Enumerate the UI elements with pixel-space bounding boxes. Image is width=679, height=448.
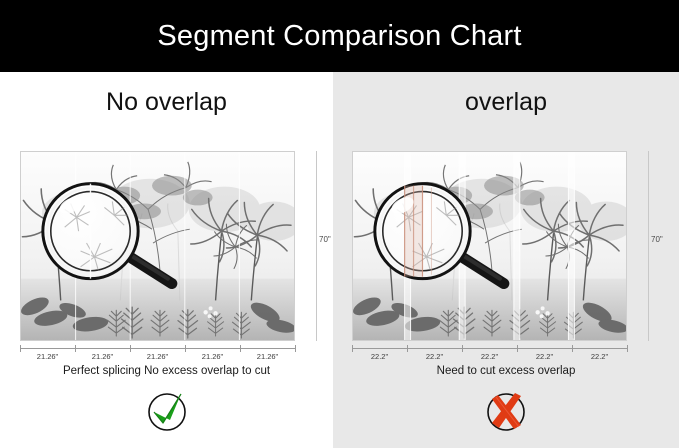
segment-width-label: 21.26" — [240, 352, 295, 361]
segment-width-label: 21.26" — [185, 352, 240, 361]
ruler-tick — [352, 345, 353, 352]
ruler-tick — [517, 345, 518, 352]
ruler-tick — [572, 345, 573, 352]
check-mark-icon — [144, 390, 190, 434]
segment-width-label: 22.2" — [572, 352, 627, 361]
ruler-tick — [130, 345, 131, 352]
ruler-tick — [240, 345, 241, 352]
ruler-line — [352, 348, 627, 349]
ruler-tick — [185, 345, 186, 352]
ruler-tick — [627, 345, 628, 352]
comparison-panels: No overlap — [0, 72, 679, 448]
ruler-tick — [462, 345, 463, 352]
title-banner: Segment Comparison Chart — [0, 0, 679, 72]
segment-width-label: 22.2" — [352, 352, 407, 361]
panel-no-overlap: No overlap — [0, 72, 333, 448]
segment-width-label: 22.2" — [407, 352, 462, 361]
height-rule-overlap — [648, 151, 649, 341]
mural-overlap — [352, 151, 627, 341]
caption-overlap: Need to cut excess overlap — [333, 366, 679, 378]
panel-overlap: overlap — [333, 72, 679, 448]
segment-width-label: 21.26" — [130, 352, 185, 361]
verdict-overlap — [333, 390, 679, 434]
ruler-tick — [20, 345, 21, 352]
segment-width-label: 22.2" — [517, 352, 572, 361]
page-title: Segment Comparison Chart — [157, 22, 521, 51]
figure-overlap: 70" 22.2" 22.2" 22.2" 22.2" 22.2" — [352, 151, 627, 369]
caption-no-overlap: Perfect splicing No excess overlap to cu… — [0, 366, 333, 378]
height-rule-no-overlap — [316, 151, 317, 341]
panel-heading-no-overlap: No overlap — [0, 90, 333, 115]
height-label-no-overlap: 70" — [319, 235, 331, 244]
segment-width-label: 22.2" — [462, 352, 517, 361]
ruler-tick — [407, 345, 408, 352]
height-label-overlap: 70" — [651, 235, 663, 244]
mural-image-no-overlap — [21, 152, 294, 340]
mural-image-overlap — [353, 152, 626, 340]
ruler-tick — [295, 345, 296, 352]
segment-width-label: 21.26" — [20, 352, 75, 361]
verdict-no-overlap — [0, 390, 333, 434]
segment-width-label: 21.26" — [75, 352, 130, 361]
ruler-line — [20, 348, 295, 349]
panel-heading-overlap: overlap — [333, 90, 679, 115]
ruler-tick — [75, 345, 76, 352]
cross-mark-icon — [483, 390, 529, 434]
mural-no-overlap — [20, 151, 295, 341]
figure-no-overlap: 70" 21.26" 21.26" 21.26" 21.26" 21.26" — [20, 151, 295, 369]
